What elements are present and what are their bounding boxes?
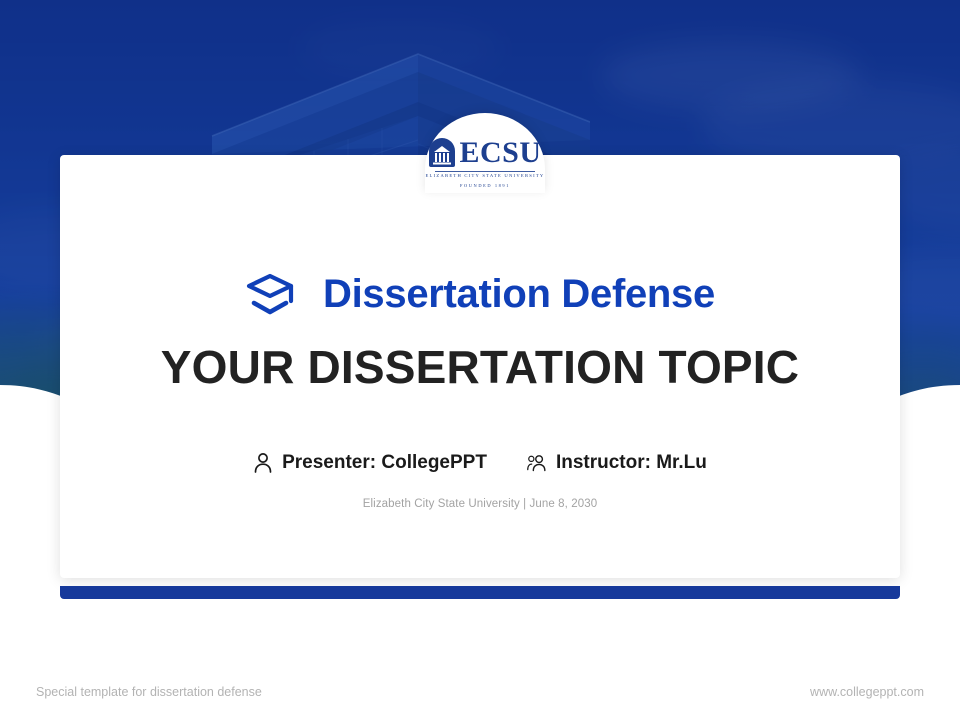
instructor-item: Instructor: Mr.Lu xyxy=(527,452,707,474)
instructor-label: Instructor: Mr.Lu xyxy=(556,452,707,474)
title-row: Dissertation Defense xyxy=(60,272,900,317)
logo-founded-line: FOUNDED 1891 xyxy=(425,183,545,188)
ecsu-building-seal-icon xyxy=(428,138,456,168)
page-title: Dissertation Defense xyxy=(323,272,715,317)
logo-divider xyxy=(435,171,535,172)
title-slide: ECSU ELIZABETH CITY STATE UNIVERSITY FOU… xyxy=(0,0,960,720)
single-person-icon xyxy=(253,452,273,474)
presenter-item: Presenter: CollegePPT xyxy=(253,452,487,474)
footer: Special template for dissertation defens… xyxy=(0,680,960,704)
dissertation-topic: YOUR DISSERTATION TOPIC xyxy=(60,340,900,394)
two-people-icon xyxy=(527,452,547,474)
logo-university-line: ELIZABETH CITY STATE UNIVERSITY xyxy=(425,173,545,178)
footer-website: www.collegeppt.com xyxy=(810,685,924,699)
footer-left-text: Special template for dissertation defens… xyxy=(36,685,262,699)
people-row: Presenter: CollegePPT Instructor: Mr.Lu xyxy=(60,452,900,474)
university-and-date: Elizabeth City State University | June 8… xyxy=(60,498,900,510)
university-logo: ECSU ELIZABETH CITY STATE UNIVERSITY FOU… xyxy=(425,138,545,188)
card-accent-bar xyxy=(60,586,900,599)
presenter-label: Presenter: CollegePPT xyxy=(282,452,487,474)
graduation-cap-icon xyxy=(245,273,301,317)
logo-wordmark: ECSU xyxy=(459,138,541,168)
